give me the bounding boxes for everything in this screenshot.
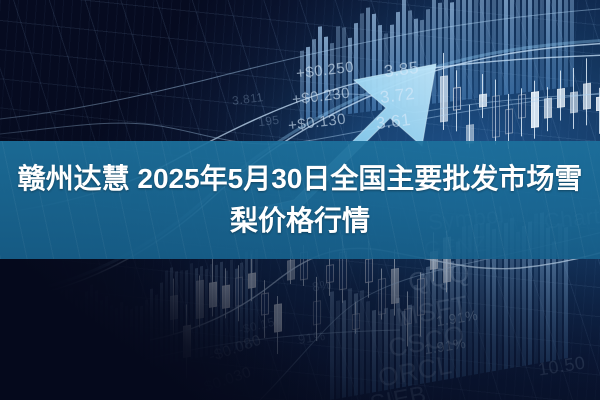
page-title-line-2: 梨价格行情 <box>230 200 370 242</box>
page-title: 赣州达慧 2025年5月30日全国主要批发市场雪 梨价格行情 <box>0 141 600 259</box>
banner-image: +$0.250 +$0.230 +$0.130 3.85 3.72 3.61 3… <box>0 0 600 400</box>
page-title-line-1: 赣州达慧 2025年5月30日全国主要批发市场雪 <box>18 158 583 200</box>
